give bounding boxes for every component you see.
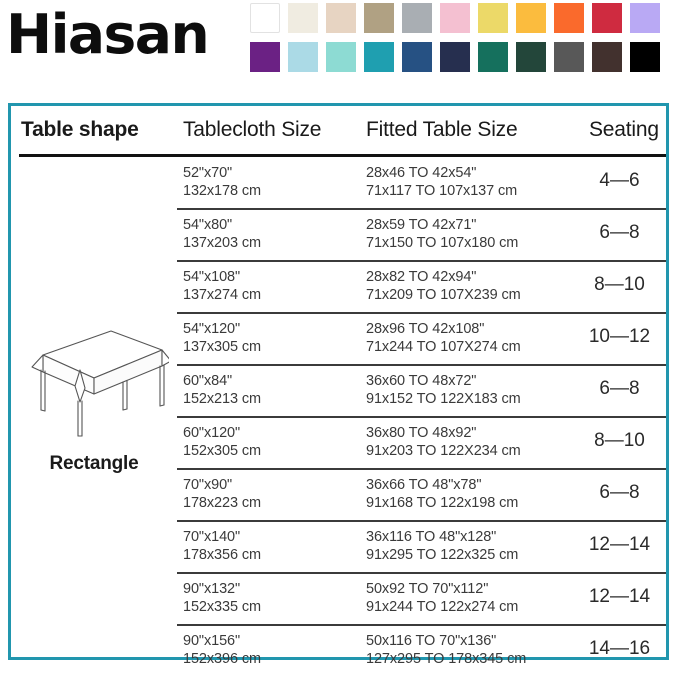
brand-logo: Hiasan: [6, 4, 208, 66]
color-swatch-emerald-green[interactable]: [478, 42, 508, 72]
cell-seating: 10—12: [577, 328, 662, 346]
color-swatch-grid: [250, 3, 670, 81]
color-swatch-pale-yellow[interactable]: [478, 3, 508, 33]
cell-seating: 6—8: [577, 224, 662, 242]
cell-tablecloth-size: 90"x132"152x335 cm: [183, 580, 261, 616]
cell-seating: 14—16: [577, 640, 662, 658]
size-chart-panel: Table shape Tablecloth Size Fitted Table…: [8, 103, 669, 660]
cell-seating: 8—10: [577, 276, 662, 294]
cell-tablecloth-size: 70"x90"178x223 cm: [183, 476, 261, 512]
color-swatch-red[interactable]: [592, 3, 622, 33]
color-swatch-black[interactable]: [630, 42, 660, 72]
table-row: 54"x80"137x203 cm28x59 TO 42x71"71x150 T…: [177, 208, 666, 260]
cell-fitted-table-size: 28x59 TO 42x71"71x150 TO 107x180 cm: [366, 216, 518, 252]
color-swatch-taupe[interactable]: [364, 3, 394, 33]
table-row: 54"x108"137x274 cm28x82 TO 42x94"71x209 …: [177, 260, 666, 312]
cell-fitted-table-size: 36x66 TO 48"x78"91x168 TO 122x198 cm: [366, 476, 518, 512]
cell-seating: 8—10: [577, 432, 662, 450]
cell-tablecloth-size: 54"x108"137x274 cm: [183, 268, 261, 304]
color-swatch-navy-blue[interactable]: [402, 42, 432, 72]
color-swatch-white[interactable]: [250, 3, 280, 33]
cell-seating: 12—14: [577, 536, 662, 554]
cell-seating: 6—8: [577, 380, 662, 398]
color-swatch-charcoal-gray[interactable]: [554, 42, 584, 72]
cell-fitted-table-size: 36x80 TO 48x92"91x203 TO 122X234 cm: [366, 424, 521, 460]
cell-fitted-table-size: 28x96 TO 42x108"71x244 TO 107X274 cm: [366, 320, 521, 356]
table-row: 70"x90"178x223 cm36x66 TO 48"x78"91x168 …: [177, 468, 666, 520]
table-shape-label: Rectangle: [11, 453, 177, 475]
cell-fitted-table-size: 28x82 TO 42x94"71x209 TO 107X239 cm: [366, 268, 521, 304]
swatch-row-bottom: [250, 42, 670, 72]
column-header-seating: Seating: [589, 118, 659, 142]
header-divider: [19, 154, 666, 157]
table-row: 54"x120"137x305 cm28x96 TO 42x108"71x244…: [177, 312, 666, 364]
size-rows-container: 52"x70"132x178 cm28x46 TO 42x54"71x117 T…: [177, 158, 666, 676]
color-swatch-lavender[interactable]: [630, 3, 660, 33]
column-header-table-shape: Table shape: [21, 118, 139, 142]
cell-tablecloth-size: 60"x84"152x213 cm: [183, 372, 261, 408]
table-row: 70"x140"178x356 cm36x116 TO 48"x128"91x2…: [177, 520, 666, 572]
cell-seating: 12—14: [577, 588, 662, 606]
cell-seating: 4—6: [577, 172, 662, 190]
cell-fitted-table-size: 50x116 TO 70"x136"127x295 TO 178x345 cm: [366, 632, 526, 668]
column-header-fitted-table-size: Fitted Table Size: [366, 118, 517, 142]
cell-fitted-table-size: 36x60 TO 48x72"91x152 TO 122X183 cm: [366, 372, 521, 408]
swatch-row-top: [250, 3, 670, 33]
color-swatch-dark-navy[interactable]: [440, 42, 470, 72]
cell-tablecloth-size: 60"x120"152x305 cm: [183, 424, 261, 460]
color-swatch-aqua[interactable]: [326, 42, 356, 72]
color-swatch-silver-gray[interactable]: [402, 3, 432, 33]
color-swatch-dark-brown[interactable]: [592, 42, 622, 72]
cell-fitted-table-size: 28x46 TO 42x54"71x117 TO 107x137 cm: [366, 164, 517, 200]
cell-seating: 6—8: [577, 484, 662, 502]
table-row: 90"x132"152x335 cm50x92 TO 70"x112"91x24…: [177, 572, 666, 624]
table-row: 52"x70"132x178 cm28x46 TO 42x54"71x117 T…: [177, 158, 666, 208]
color-swatch-teal[interactable]: [364, 42, 394, 72]
rectangle-table-illustration: [19, 318, 169, 438]
column-header-tablecloth-size: Tablecloth Size: [183, 118, 321, 142]
header-band: Hiasan: [0, 0, 679, 90]
color-swatch-forest-green[interactable]: [516, 42, 546, 72]
cell-tablecloth-size: 52"x70"132x178 cm: [183, 164, 261, 200]
cell-tablecloth-size: 90"x156"152x396 cm: [183, 632, 261, 668]
cell-tablecloth-size: 70"x140"178x356 cm: [183, 528, 261, 564]
cell-tablecloth-size: 54"x120"137x305 cm: [183, 320, 261, 356]
table-shape-cell: Rectangle: [11, 158, 177, 658]
cell-tablecloth-size: 54"x80"137x203 cm: [183, 216, 261, 252]
color-swatch-ivory[interactable]: [288, 3, 318, 33]
color-swatch-beige[interactable]: [326, 3, 356, 33]
cell-fitted-table-size: 36x116 TO 48"x128"91x295 TO 122x325 cm: [366, 528, 518, 564]
color-swatch-orange[interactable]: [554, 3, 584, 33]
table-row: 60"x84"152x213 cm36x60 TO 48x72"91x152 T…: [177, 364, 666, 416]
cell-fitted-table-size: 50x92 TO 70"x112"91x244 TO 122x274 cm: [366, 580, 518, 616]
table-row: 90"x156"152x396 cm50x116 TO 70"x136"127x…: [177, 624, 666, 676]
color-swatch-light-blue[interactable]: [288, 42, 318, 72]
color-swatch-purple[interactable]: [250, 42, 280, 72]
table-column-header: Table shape Tablecloth Size Fitted Table…: [11, 112, 666, 156]
color-swatch-golden-yellow[interactable]: [516, 3, 546, 33]
color-swatch-blush-pink[interactable]: [440, 3, 470, 33]
table-row: 60"x120"152x305 cm36x80 TO 48x92"91x203 …: [177, 416, 666, 468]
